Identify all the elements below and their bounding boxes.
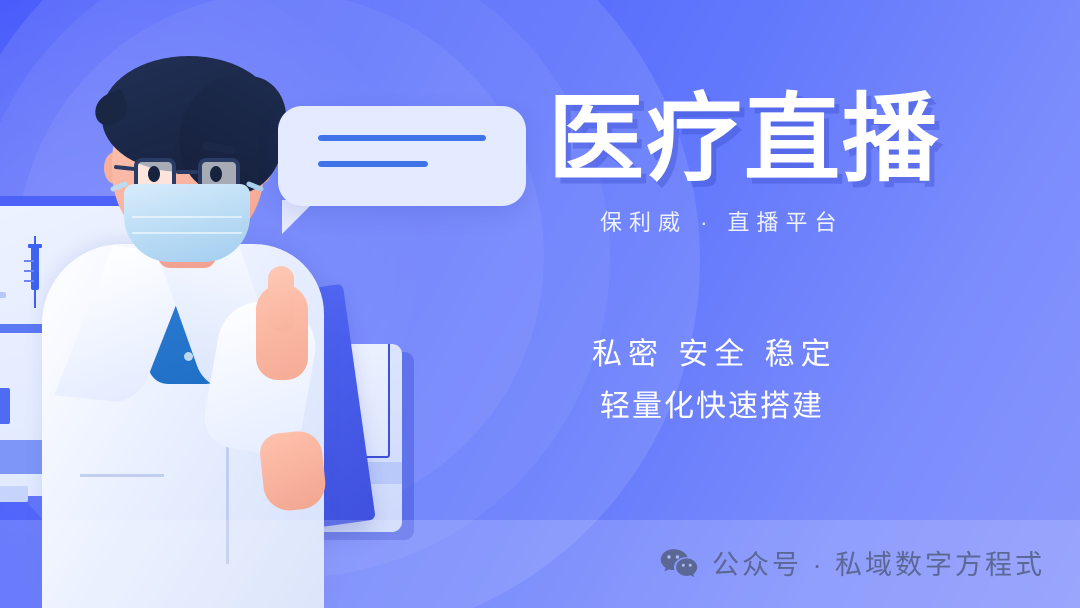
page-subtitle: 保利威 · 直播平台: [600, 205, 844, 237]
hand-holding-clipboard: [258, 429, 328, 513]
wechat-icon: [660, 548, 698, 578]
footer-bar: 公众号 · 私域数字方程式: [0, 520, 1080, 608]
footer-label: 公众号 · 私域数字方程式: [712, 543, 1045, 582]
face-mask-icon: [124, 184, 250, 262]
chat-bubble-line: [318, 161, 428, 167]
slogan-line-1: 私密 安全 稳定: [592, 329, 837, 373]
index-finger: [268, 266, 294, 332]
page-title: 医疗直播: [548, 92, 940, 188]
slogan-line-2: 轻量化快速搭建: [600, 381, 824, 425]
eye-right: [210, 166, 222, 182]
mask-fold: [132, 216, 242, 218]
panel-divider: [0, 292, 6, 298]
glasses-bridge: [176, 170, 198, 174]
chat-bubble-icon: [278, 106, 526, 206]
chat-bubble-line: [318, 135, 486, 141]
panel-bar-6: [0, 486, 28, 502]
eye-left: [148, 166, 160, 182]
panel-bar-4: [0, 388, 10, 424]
mask-fold: [132, 232, 242, 234]
footer-wechat-row[interactable]: 公众号 · 私域数字方程式: [660, 543, 1045, 582]
shirt-button: [184, 352, 193, 361]
promo-poster: 医疗直播 保利威 · 直播平台 私密 安全 稳定 轻量化快速搭建 公众号 · 私…: [0, 0, 1080, 608]
